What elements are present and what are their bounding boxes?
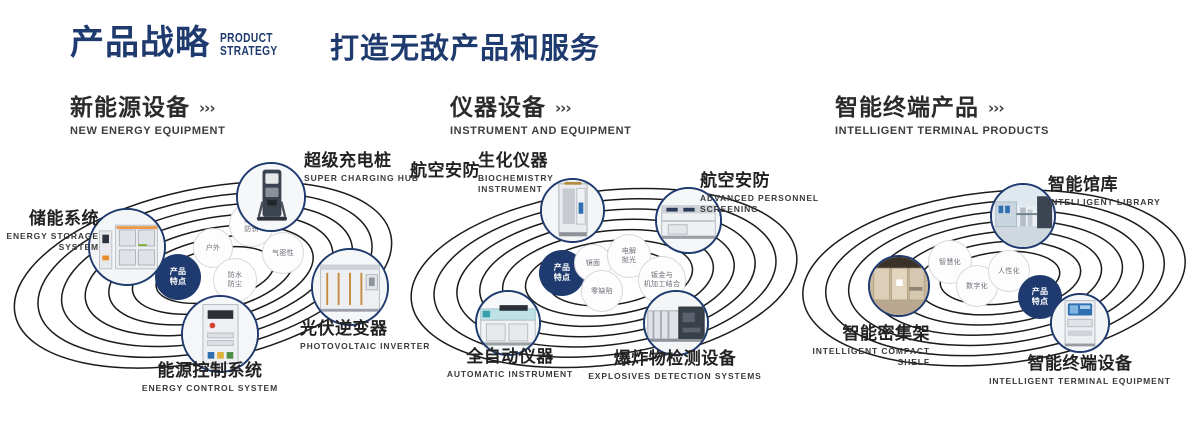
caption-intelligent-terminal-equipment: 智能终端设备 INTELLIGENT TERMINAL EQUIPMENT (935, 355, 1200, 387)
intelligent-terminal-equipment-icon (1052, 295, 1108, 351)
cluster-new-energy: 产品 特点 户外 防腐 防锈 气密性 防水 防尘 储能系统 ENERGY S (0, 150, 420, 400)
chevron-right-icon: ››› (988, 100, 1004, 117)
section-title-intelligent-terminal: 智能终端产品 ››› INTELLIGENT TERMINAL PRODUCTS (835, 96, 1049, 137)
caption-en: ENERGY CONTROL SYSTEM (95, 383, 325, 394)
caption-intelligent-compact-shelf: 智能密集架 INTELLIGENT COMPACT SHELF (720, 325, 930, 368)
page-title: 产品战略 (70, 26, 210, 60)
caption-automatic-instrument: 全自动仪器 AUTOMATIC INSTRUMENT (420, 348, 600, 380)
node-photovoltaic-inverter[interactable] (311, 248, 389, 326)
caption-en: INTELLIGENT TERMINAL EQUIPMENT (935, 376, 1200, 387)
caption-en: ENERGY STORAGE SYSTEM (0, 231, 99, 253)
caption-intelligent-library: 智能馆库 INTELLIGENT LIBRARY (1048, 176, 1188, 208)
section-title-en: INSTRUMENT AND EQUIPMENT (450, 125, 631, 137)
caption-cn: 智能馆库 (1048, 176, 1188, 196)
section-title-cn: 仪器设备 (450, 96, 546, 121)
page-slogan: 打造无敌产品和服务 (330, 34, 600, 63)
section-title-en: INTELLIGENT TERMINAL PRODUCTS (835, 125, 1049, 137)
section-title-cn: 智能终端产品 (835, 96, 979, 121)
caption-cn: 智能密集架 (720, 325, 930, 345)
section-title-new-energy: 新能源设备 ››› NEW ENERGY EQUIPMENT (70, 96, 225, 137)
automatic-instrument-icon (477, 292, 539, 354)
caption-en: INTELLIGENT LIBRARY (1048, 197, 1188, 208)
page-header: 产品战略 PRODUCT STRATEGY (70, 26, 294, 78)
feature-bubble: 零缺陷 (581, 270, 623, 312)
super-charging-hub-icon (238, 164, 304, 230)
node-explosives-detection[interactable] (643, 290, 709, 356)
caption-energy-control-system: 能源控制系统 ENERGY CONTROL SYSTEM (95, 362, 325, 394)
node-super-charging-hub[interactable] (236, 162, 306, 232)
intelligent-library-icon (992, 185, 1054, 247)
energy-control-cabinet-icon (183, 297, 257, 371)
caption-en: INTELLIGENT COMPACT SHELF (720, 346, 930, 368)
caption-cn: 储能系统 (0, 210, 99, 230)
node-intelligent-terminal-equipment[interactable] (1050, 293, 1110, 353)
section-title-instrument: 仪器设备 ››› INSTRUMENT AND EQUIPMENT (450, 96, 631, 137)
node-intelligent-compact-shelf[interactable] (868, 255, 930, 317)
caption-cn: 全自动仪器 (420, 348, 600, 368)
photovoltaic-inverter-icon (313, 250, 387, 324)
node-energy-storage-system[interactable] (88, 208, 166, 286)
caption-cn: 生化仪器 (478, 152, 598, 172)
caption-energy-storage-system: 储能系统 ENERGY STORAGE SYSTEM (0, 210, 99, 253)
product-strategy-infographic: 产品战略 PRODUCT STRATEGY 打造无敌产品和服务 新能源设备 ››… (0, 0, 1200, 422)
caption-biochemistry-instrument: 生化仪器 BIOCHEMISTRY INSTRUMENT (478, 152, 598, 195)
caption-en: AUTOMATIC INSTRUMENT (420, 369, 600, 380)
intelligent-compact-shelf-icon (870, 257, 928, 315)
node-intelligent-library[interactable] (990, 183, 1056, 249)
section-title-cn: 新能源设备 (70, 96, 190, 121)
energy-storage-cabinet-icon (90, 210, 164, 284)
cluster-intelligent-terminal: 智慧化 数字化 人性化 产品 特点 智能馆库 INTELLIGENT LIBRA… (800, 150, 1200, 400)
chevron-right-icon: ››› (555, 100, 571, 117)
caption-cn: 智能终端设备 (935, 355, 1200, 375)
caption-cn: 能源控制系统 (95, 362, 325, 382)
section-title-en: NEW ENERGY EQUIPMENT (70, 125, 225, 137)
caption-en: BIOCHEMISTRY INSTRUMENT (478, 173, 598, 195)
page-title-en: PRODUCT STRATEGY (220, 31, 278, 58)
caption-en: EXPLOSIVES DETECTION SYSTEMS (580, 371, 770, 382)
feature-bubble: 气密性 (262, 232, 304, 274)
chevron-right-icon: ››› (199, 100, 215, 117)
explosives-detection-system-icon (645, 292, 707, 354)
